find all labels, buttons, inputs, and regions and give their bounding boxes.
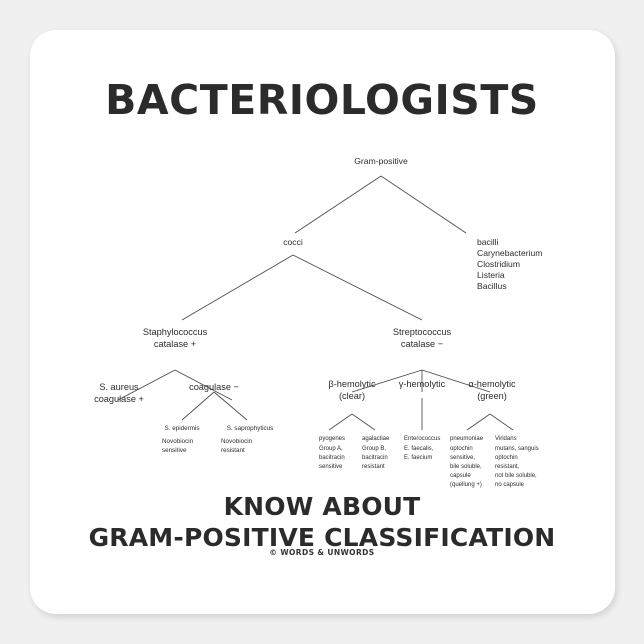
node-s-aureus-coagulase: coagulase + — [94, 394, 144, 404]
node-pneumoniae-capsule: capsule — [450, 473, 471, 479]
node-enterococcus-faecium: E. faecium — [404, 455, 432, 461]
node-staphylococcus: Staphylococcus — [143, 327, 208, 337]
node-viridans-optochin: optochin — [495, 455, 518, 461]
edge-root-cocci — [295, 176, 381, 233]
tree-edges — [118, 176, 513, 430]
node-bacillus: Bacillus — [477, 281, 507, 291]
node-viridans-species: mutans, sanguis — [495, 446, 539, 452]
node-alpha-hemolytic-group: α-hemolytic (green) — [468, 379, 516, 401]
node-listeria: Listeria — [477, 270, 505, 280]
edge-coagneg-ssaprophyticus — [214, 392, 247, 420]
sticker-stage: BACTERIOLOGISTS — [0, 0, 644, 644]
node-clostridium: Clostridium — [477, 259, 520, 269]
node-pneumoniae-group: pneumoniae optochin sensitive, bile solu… — [450, 436, 484, 488]
node-gram-positive: Gram-positive — [354, 156, 408, 166]
node-carynebacterium: Carynebacterium — [477, 248, 542, 258]
node-s-saprophyticus-novobiocin: Novobiocin — [221, 438, 253, 445]
node-s-epidermis-novobiocin: Novobiocin — [162, 438, 194, 445]
node-alpha-hemolytic: α-hemolytic — [468, 379, 516, 389]
node-pyogenes-group: pyogenes Group A, bacitracin sensitive — [319, 436, 345, 470]
node-streptococcus-group: Streptococcus catalase − — [393, 327, 452, 349]
node-pneumoniae: pneumoniae — [450, 436, 484, 442]
node-s-saprophyticus: S. saprophyticus — [227, 425, 274, 432]
node-beta-hemolytic-note: (clear) — [339, 391, 365, 401]
node-pneumoniae-bile: bile soluble, — [450, 464, 482, 470]
node-cocci: cocci — [283, 237, 303, 247]
node-agalactiae-bacitracin: bacitracin — [362, 455, 388, 461]
node-s-epidermis-sensitivity: sensitive — [162, 447, 187, 454]
node-pyogenes-bacitracin: bacitracin — [319, 455, 345, 461]
node-coagulase-negative: coagulase − — [189, 382, 239, 392]
node-pneumoniae-quellung: (quellung +) — [450, 482, 482, 488]
credit-line: © WORDS & UNWORDS — [0, 548, 644, 557]
page-title-bottom: KNOW ABOUT GRAM-POSITIVE CLASSIFICATION — [0, 492, 644, 553]
node-pyogenes-sensitive: sensitive — [319, 464, 343, 470]
edge-alpha-viridans — [490, 414, 513, 430]
node-pneumoniae-optochin: optochin — [450, 446, 473, 452]
node-viridans: Viridans — [495, 436, 517, 442]
edge-root-bacilli — [381, 176, 466, 233]
node-gamma-hemolytic: γ-hemolytic — [399, 379, 446, 389]
node-staph-catalase: catalase + — [154, 339, 196, 349]
node-viridans-bile: not bile soluble, — [495, 473, 537, 479]
node-streptococcus: Streptococcus — [393, 327, 452, 337]
node-s-aureus-group: S. aureus coagulase + — [94, 382, 144, 404]
node-viridans-resistant: resistant, — [495, 464, 520, 470]
node-beta-hemolytic: β-hemolytic — [328, 379, 376, 389]
node-agalactiae: agalactiae — [362, 436, 390, 442]
edge-beta-pyogenes — [329, 414, 352, 430]
edge-cocci-staph — [182, 255, 293, 320]
node-agalactiae-group: agalactiae Group B, bacitracin resistant — [362, 436, 390, 470]
edge-beta-agalactiae — [352, 414, 375, 430]
edge-alpha-pneumoniae — [467, 414, 490, 430]
node-alpha-hemolytic-note: (green) — [477, 391, 507, 401]
node-s-saprophyticus-group: S. saprophyticus Novobiocin resistant — [221, 425, 273, 454]
node-bacilli: bacilli — [477, 237, 499, 247]
node-s-epidermis-group: S. epidermis Novobiocin sensitive — [162, 425, 200, 454]
node-viridans-group: Viridans mutans, sanguis optochin resist… — [495, 436, 539, 488]
node-s-epidermis: S. epidermis — [165, 425, 200, 432]
node-agalactiae-group-b: Group B, — [362, 446, 386, 452]
node-enterococcus: Enterococcus — [404, 436, 440, 442]
node-strep-catalase: catalase − — [401, 339, 443, 349]
node-s-aureus: S. aureus — [99, 382, 139, 392]
edge-cocci-strep — [293, 255, 422, 320]
page-title-bottom-line1: KNOW ABOUT — [224, 492, 421, 521]
node-enterococcus-group: Enterococcus E. faecalis, E. faecium — [404, 436, 440, 461]
edge-coagneg-sepidermis — [182, 392, 214, 420]
node-pneumoniae-sensitive: sensitive, — [450, 455, 475, 461]
node-staphylococcus-group: Staphylococcus catalase + — [143, 327, 208, 349]
node-enterococcus-faecalis: E. faecalis, — [404, 446, 434, 452]
node-pyogenes-group-a: Group A, — [319, 446, 343, 452]
node-agalactiae-resistant: resistant — [362, 464, 385, 470]
node-pyogenes: pyogenes — [319, 436, 345, 442]
node-viridans-capsule: no capsule — [495, 482, 525, 488]
node-bacilli-group: bacilli Carynebacterium Clostridium List… — [477, 237, 542, 291]
node-s-saprophyticus-sensitivity: resistant — [221, 447, 245, 454]
node-beta-hemolytic-group: β-hemolytic (clear) — [328, 379, 376, 401]
